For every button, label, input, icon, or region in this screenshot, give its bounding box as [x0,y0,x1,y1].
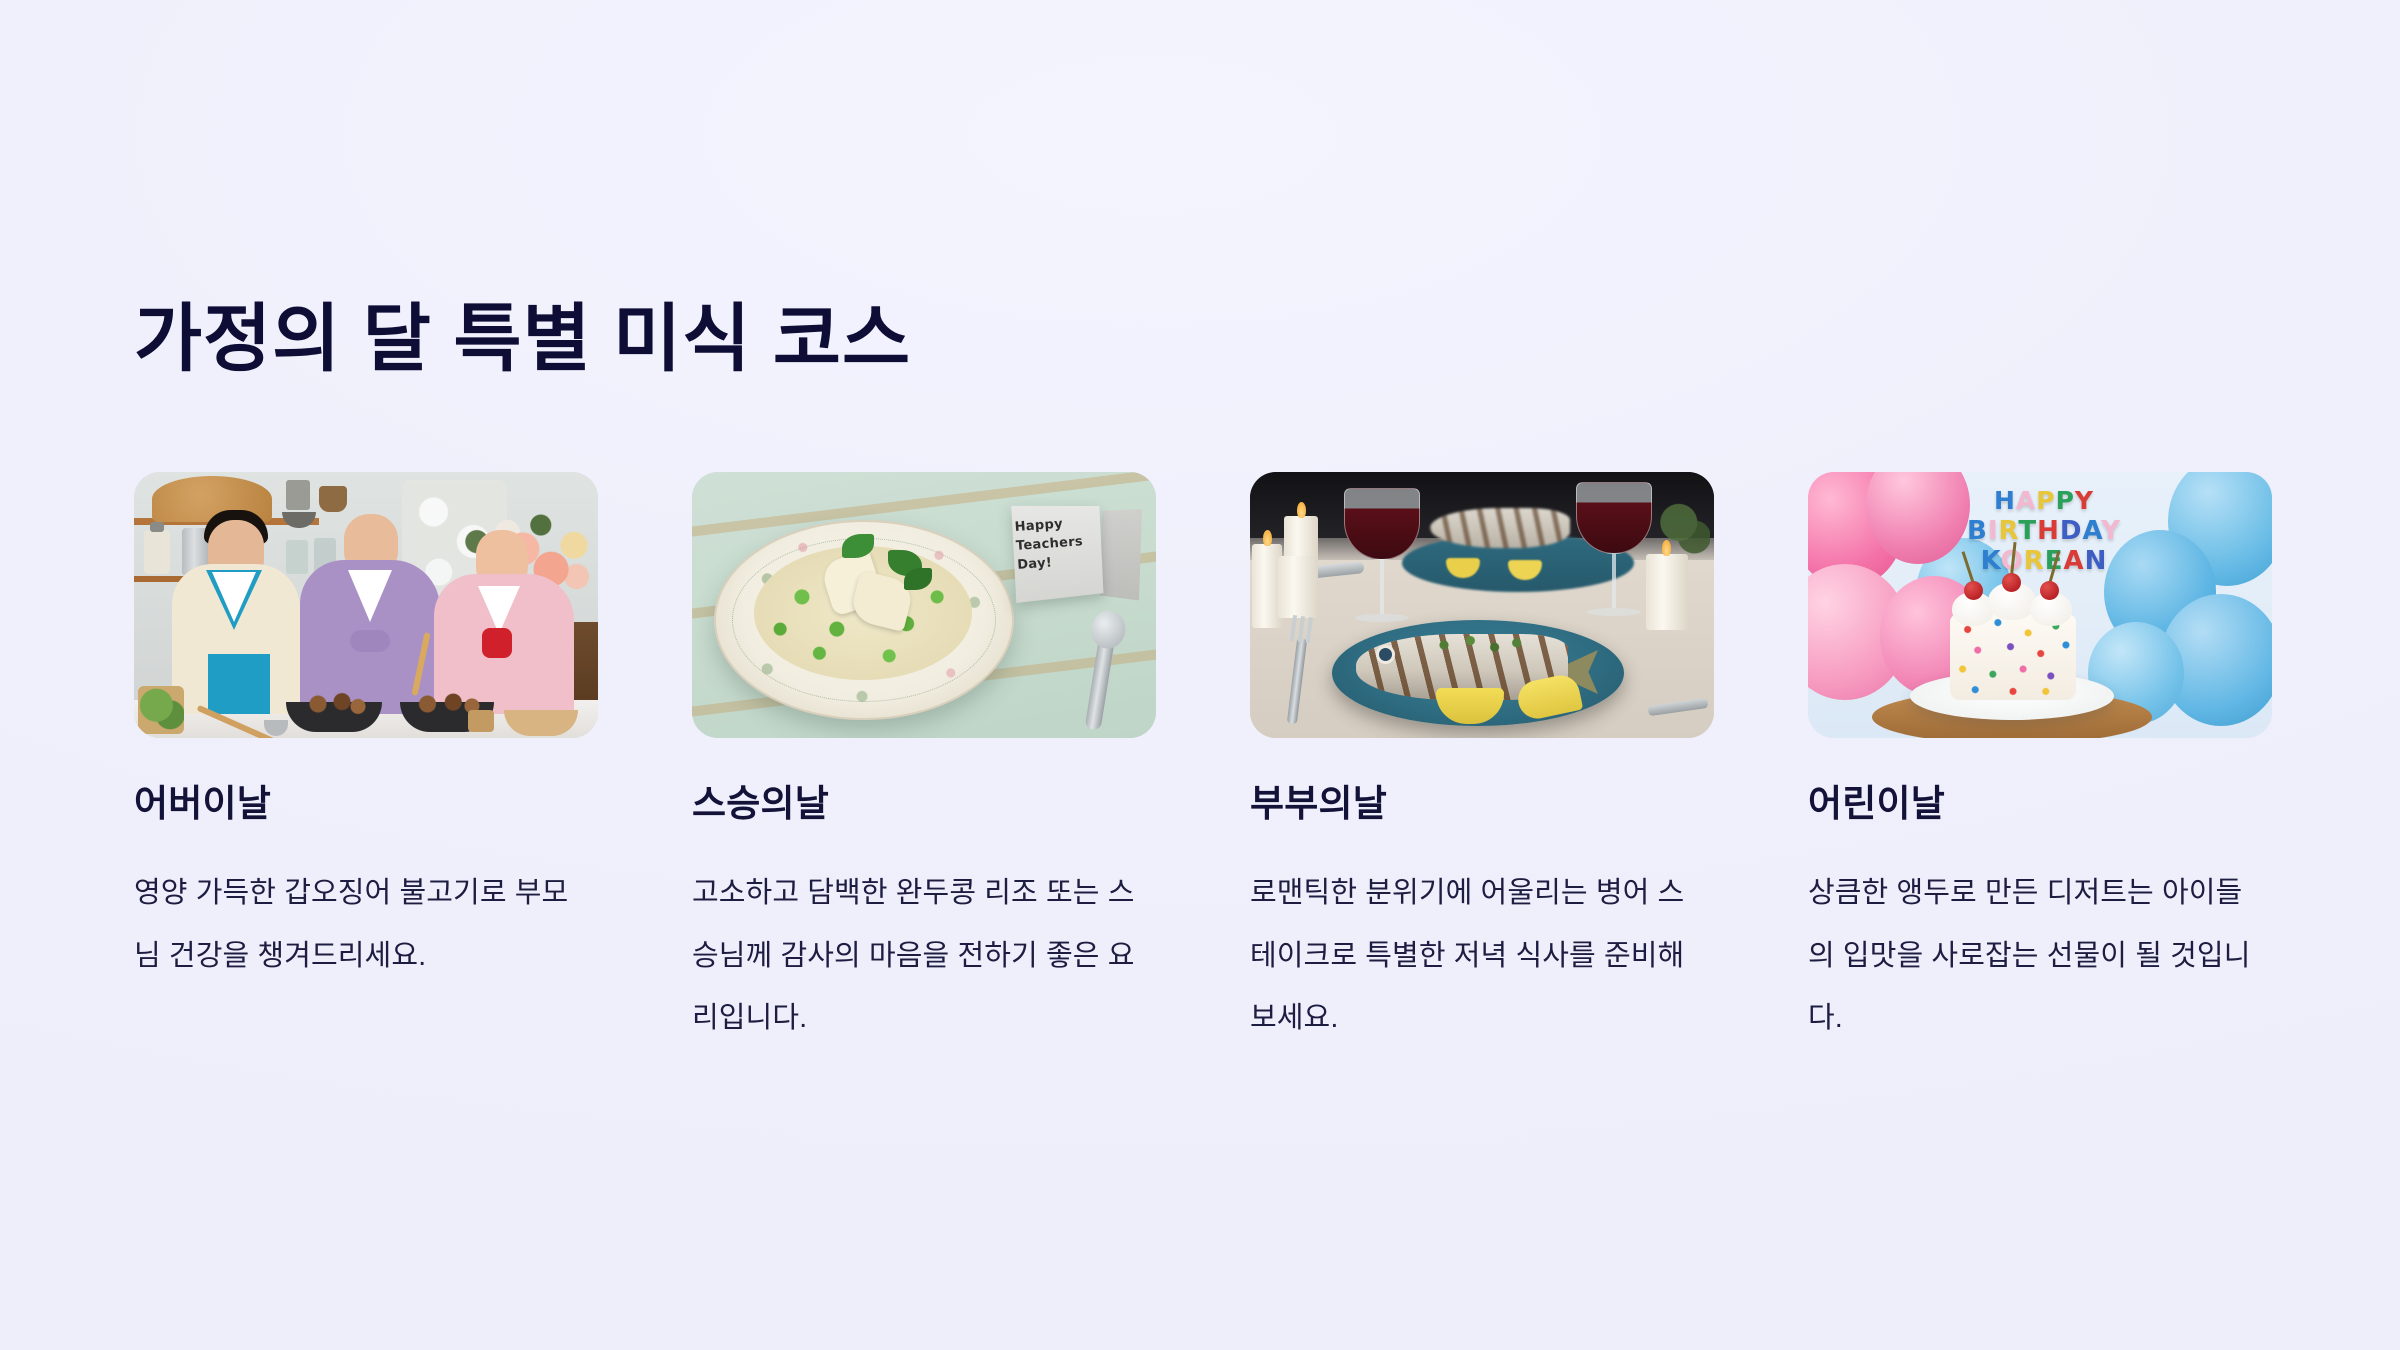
card-description: 고소하고 담백한 완두콩 리조 또는 스승님께 감사의 마음을 전하기 좋은 요… [692,862,1144,1049]
birthday-banner-text: HAPPY BIRTHDAY KOREAN [1944,486,2144,577]
scene-pea-risotto: Happy Teachers Day! [692,472,1156,738]
card-description: 상큼한 앵두로 만든 디저트는 아이들의 입맛을 사로잡는 선물이 될 것입니다… [1808,862,2260,1049]
card-description: 영양 가득한 갑오징어 불고기로 부모님 건강을 챙겨드리세요. [134,862,586,987]
card-title: 어버이날 [134,782,598,826]
scene-birthday-cake: HAPPY BIRTHDAY KOREAN [1808,472,2272,738]
promo-page: 가정의 달 특별 미식 코스 [0,0,2400,1350]
card-grid: 어버이날 영양 가득한 갑오징어 불고기로 부모님 건강을 챙겨드리세요. Ha… [134,472,2272,1049]
teachers-day-card-text: Happy Teachers Day! [1014,513,1102,575]
card-teachers-day[interactable]: Happy Teachers Day! 스승의날 고소하고 담백한 완두콩 리조… [692,472,1156,1049]
card-parents-day[interactable]: 어버이날 영양 가득한 갑오징어 불고기로 부모님 건강을 챙겨드리세요. [134,472,598,1049]
banner-line-1: HAPPY [1944,486,2144,516]
scene-grilled-fish-dinner [1250,472,1714,738]
card-description: 로맨틱한 분위기에 어울리는 병어 스테이크로 특별한 저녁 식사를 준비해보세… [1250,862,1702,1049]
card-title: 어린이날 [1808,782,2272,826]
card-image-childrens-day: HAPPY BIRTHDAY KOREAN [1808,472,2272,738]
card-image-couples-day [1250,472,1714,738]
card-childrens-day[interactable]: HAPPY BIRTHDAY KOREAN 어린이날 상큼한 앵두로 만든 디저… [1808,472,2272,1049]
card-image-teachers-day: Happy Teachers Day! [692,472,1156,738]
card-title: 스승의날 [692,782,1156,826]
card-title: 부부의날 [1250,782,1714,826]
banner-line-3: KOREAN [1944,546,2144,577]
card-image-parents-day [134,472,598,738]
banner-line-2: BIRTHDAY [1944,516,2144,547]
scene-family-cooking [134,472,598,738]
page-title: 가정의 달 특별 미식 코스 [134,296,911,381]
card-couples-day[interactable]: 부부의날 로맨틱한 분위기에 어울리는 병어 스테이크로 특별한 저녁 식사를 … [1250,472,1714,1049]
